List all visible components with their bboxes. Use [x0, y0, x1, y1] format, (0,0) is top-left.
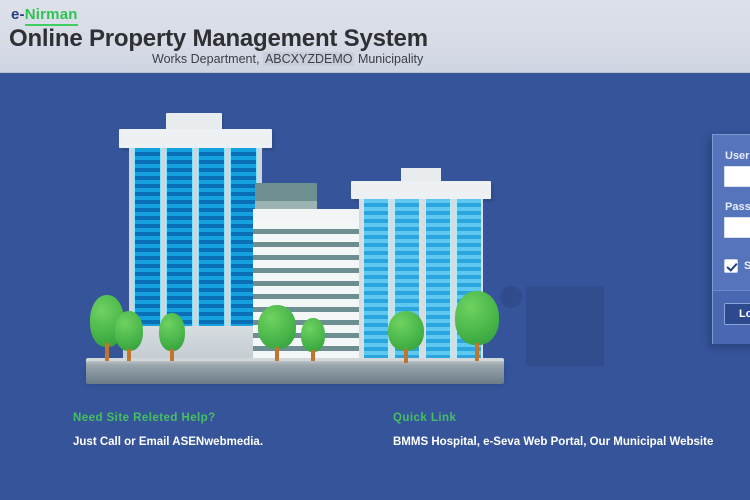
- page-subtitle: Works Department, ABCXYZDEMO Municipalit…: [152, 51, 423, 67]
- tower-c-rooftop-box: [401, 168, 441, 182]
- tree-crown: [258, 305, 296, 349]
- tree-trunk: [275, 347, 279, 361]
- tower-a-rooftop-box: [166, 113, 222, 130]
- tree: [115, 311, 143, 361]
- help-heading: Need Site Releted Help?: [73, 411, 263, 425]
- tower-a-base: [123, 326, 268, 362]
- username-input[interactable]: [724, 166, 750, 187]
- main-stage: Need Site Releted Help? Just Call or Ema…: [0, 73, 750, 500]
- tower-c-roof: [351, 181, 491, 199]
- tree-crown: [455, 291, 499, 345]
- subtitle-prefix: Works Department,: [152, 52, 259, 66]
- page-header: e-Nirman Online Property Management Syst…: [0, 0, 750, 73]
- tree-trunk: [404, 349, 408, 363]
- subtitle-suffix: Municipality: [358, 52, 423, 66]
- checkbox-checked-icon[interactable]: [724, 259, 738, 273]
- tower-a-glass-column: [134, 148, 161, 330]
- quick-link-block: Quick Link BMMS Hospital, e-Seva Web Por…: [393, 411, 713, 449]
- municipality-code: ABCXYZDEMO: [263, 52, 355, 66]
- tree: [388, 311, 424, 363]
- help-info-block: Need Site Releted Help? Just Call or Ema…: [73, 411, 263, 449]
- brand-name: Nirman: [25, 6, 78, 26]
- login-panel-footer: Login: [713, 290, 750, 344]
- username-label: Username: [725, 150, 750, 162]
- background-watermark: [500, 258, 618, 373]
- tree-crown: [301, 318, 325, 352]
- tree-trunk: [105, 343, 109, 361]
- tree: [258, 305, 296, 361]
- tree: [455, 291, 499, 361]
- tower-c-glass-column: [425, 199, 451, 362]
- tower-a-roof: [119, 129, 272, 148]
- city-buildings-illustration: [83, 113, 508, 403]
- tree-trunk: [127, 349, 131, 361]
- tree-trunk: [170, 349, 174, 361]
- password-input[interactable]: [724, 217, 750, 238]
- remember-me-label: Save: [744, 260, 750, 272]
- quick-link-text[interactable]: BMMS Hospital, e-Seva Web Portal, Our Mu…: [393, 435, 713, 449]
- tower-a-glass-column: [166, 148, 193, 330]
- tree-crown: [159, 313, 185, 351]
- watermark-box: [526, 286, 604, 366]
- page-title: Online Property Management System: [9, 25, 428, 52]
- brand-logo[interactable]: e-Nirman: [11, 7, 78, 22]
- ground-platform: [86, 361, 504, 384]
- brand-prefix: e-: [11, 6, 25, 23]
- tower-b-rooftop-unit: [255, 183, 317, 203]
- help-text[interactable]: Just Call or Email ASENwebmedia.: [73, 435, 263, 449]
- tree: [159, 313, 185, 361]
- tree-trunk: [311, 350, 315, 361]
- tower-a-body: [129, 148, 262, 330]
- login-button[interactable]: Login: [724, 303, 750, 325]
- tree: [301, 318, 325, 361]
- tower-a-glass-column: [198, 148, 225, 330]
- login-panel: Username Password Save Login: [712, 134, 750, 344]
- tree-crown: [388, 311, 424, 351]
- password-label: Password: [725, 201, 750, 213]
- quick-link-heading: Quick Link: [393, 411, 713, 425]
- tree-crown: [115, 311, 143, 351]
- tree-trunk: [475, 343, 479, 361]
- tower-c-glass-column: [363, 199, 389, 362]
- remember-me-row[interactable]: Save: [724, 259, 750, 273]
